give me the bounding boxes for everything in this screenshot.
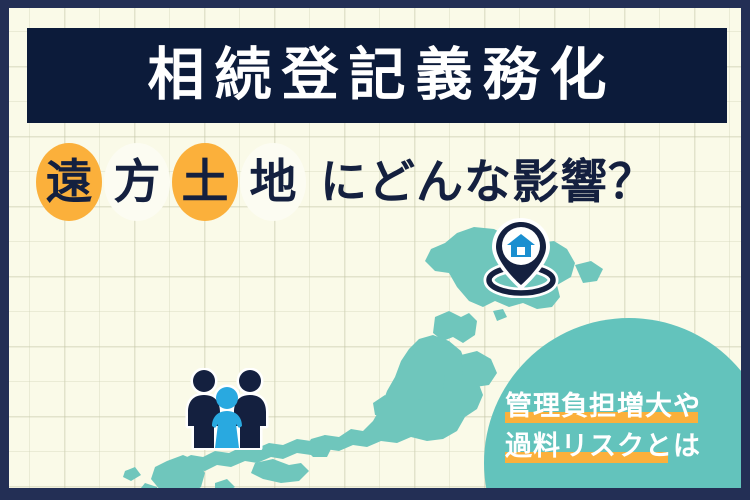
family-people-icon — [182, 368, 272, 450]
highlight-char-1: 遠 — [34, 140, 104, 224]
frame-border-bottom — [0, 488, 750, 500]
location-pin-house-icon — [478, 216, 564, 298]
highlight-char-glyph: 方 — [114, 159, 161, 206]
frame-border-left — [0, 0, 9, 500]
subtitle-row: 遠 方 土 地 にどんな影響？ — [34, 140, 656, 224]
circle-caption-line-2-text: 過料リスクとは — [505, 431, 701, 462]
circle-caption-line-1: 管理負担増大や — [505, 388, 701, 426]
circle-caption: 管理負担増大や 過料リスクとは — [505, 388, 745, 468]
circle-caption-line-1-text: 管理負担増大や — [505, 391, 701, 422]
highlight-char-3: 土 — [170, 140, 240, 224]
highlight-char-glyph: 地 — [250, 159, 297, 206]
highlight-char-glyph: 土 — [182, 159, 229, 206]
highlight-char-glyph: 遠 — [46, 159, 93, 206]
banner-canvas: 相続登記義務化 遠 方 土 地 にどんな影響？ — [0, 0, 750, 500]
frame-border-top — [0, 0, 750, 8]
subtitle-tail-text: にどんな影響？ — [320, 159, 656, 206]
circle-caption-line-2: 過料リスクとは — [505, 428, 701, 466]
highlight-char-4: 地 — [238, 140, 308, 224]
banner-title-text: 相続登記義務化 — [138, 47, 617, 104]
title-banner: 相続登記義務化 — [27, 28, 727, 123]
highlight-char-2: 方 — [102, 140, 172, 224]
